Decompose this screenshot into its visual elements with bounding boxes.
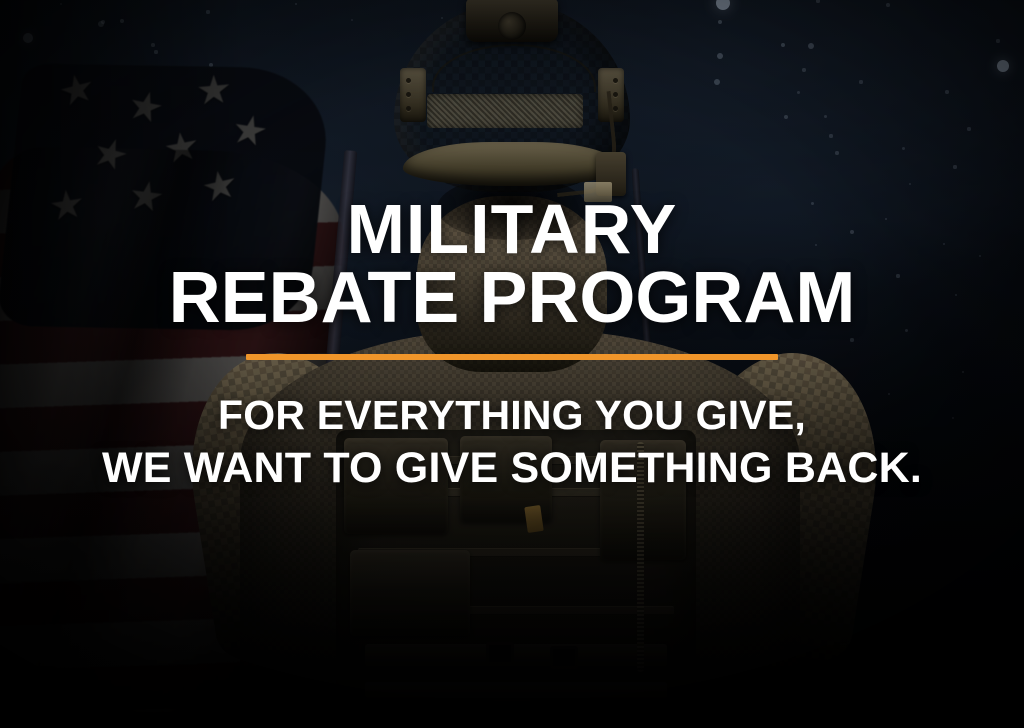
subheadline: FOR EVERYTHING YOU GIVE, WE WANT TO GIVE… <box>102 390 922 496</box>
headline-line-2: REBATE PROGRAM <box>169 264 856 334</box>
military-rebate-banner: ★★★★★★★★★ <box>0 0 1024 728</box>
subheadline-line-2: WE WANT TO GIVE SOMETHING BACK. <box>102 441 922 495</box>
banner-content: MILITARY REBATE PROGRAM FOR EVERYTHING Y… <box>0 0 1024 728</box>
page-title: MILITARY REBATE PROGRAM <box>169 196 856 334</box>
subheadline-line-1: FOR EVERYTHING YOU GIVE, <box>102 390 922 442</box>
headline-line-1: MILITARY <box>169 196 856 264</box>
orange-divider <box>246 354 778 360</box>
